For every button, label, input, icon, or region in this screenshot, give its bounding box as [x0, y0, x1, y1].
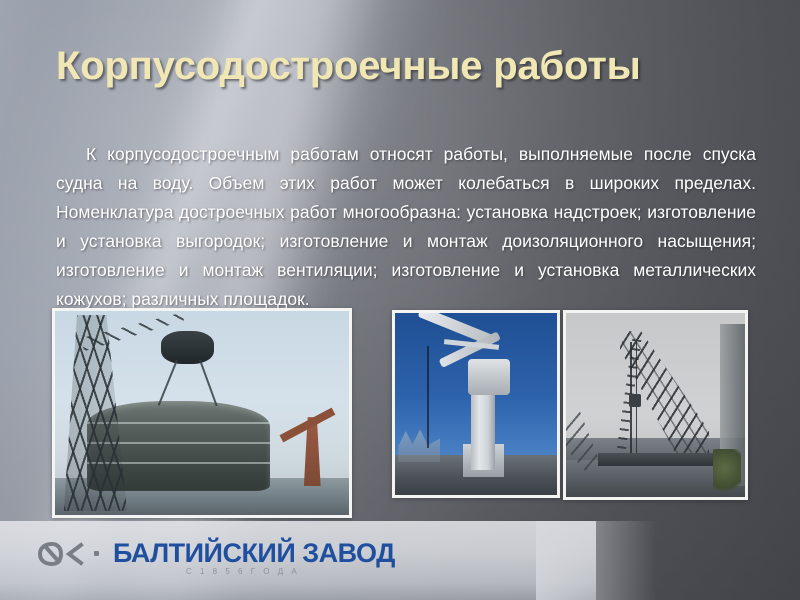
crane-machinery-house — [468, 359, 510, 395]
photo-portal-crane-image — [395, 313, 557, 495]
photo-block-lift — [52, 308, 352, 518]
photo-floating-crane — [563, 310, 748, 500]
presentation-slide: Корпусодостроечные работы К корпусодостр… — [0, 0, 800, 600]
osk-emblem-icon — [38, 541, 84, 567]
photo-portal-crane — [392, 310, 560, 498]
crane-hoist-cable — [427, 346, 429, 448]
crane-hook-block — [629, 394, 642, 407]
page-title: Корпусодостроечные работы — [56, 44, 756, 89]
crane-hook-block — [161, 331, 214, 364]
logo-separator-dot — [94, 551, 99, 556]
logo-tagline: С 1 8 5 6 Г О Д А — [186, 567, 300, 576]
company-logo: БАЛТИЙСКИЙ ЗАВОД — [38, 540, 395, 567]
photo-floating-crane-image — [566, 313, 745, 497]
body-paragraph: К корпусодостроечным работам относят раб… — [56, 140, 756, 314]
photo-block-lift-image — [55, 311, 349, 515]
logo-company-name: БАЛТИЙСКИЙ ЗАВОД — [113, 540, 395, 567]
crane-pontoon — [598, 453, 716, 466]
foreground-foliage — [713, 449, 742, 497]
